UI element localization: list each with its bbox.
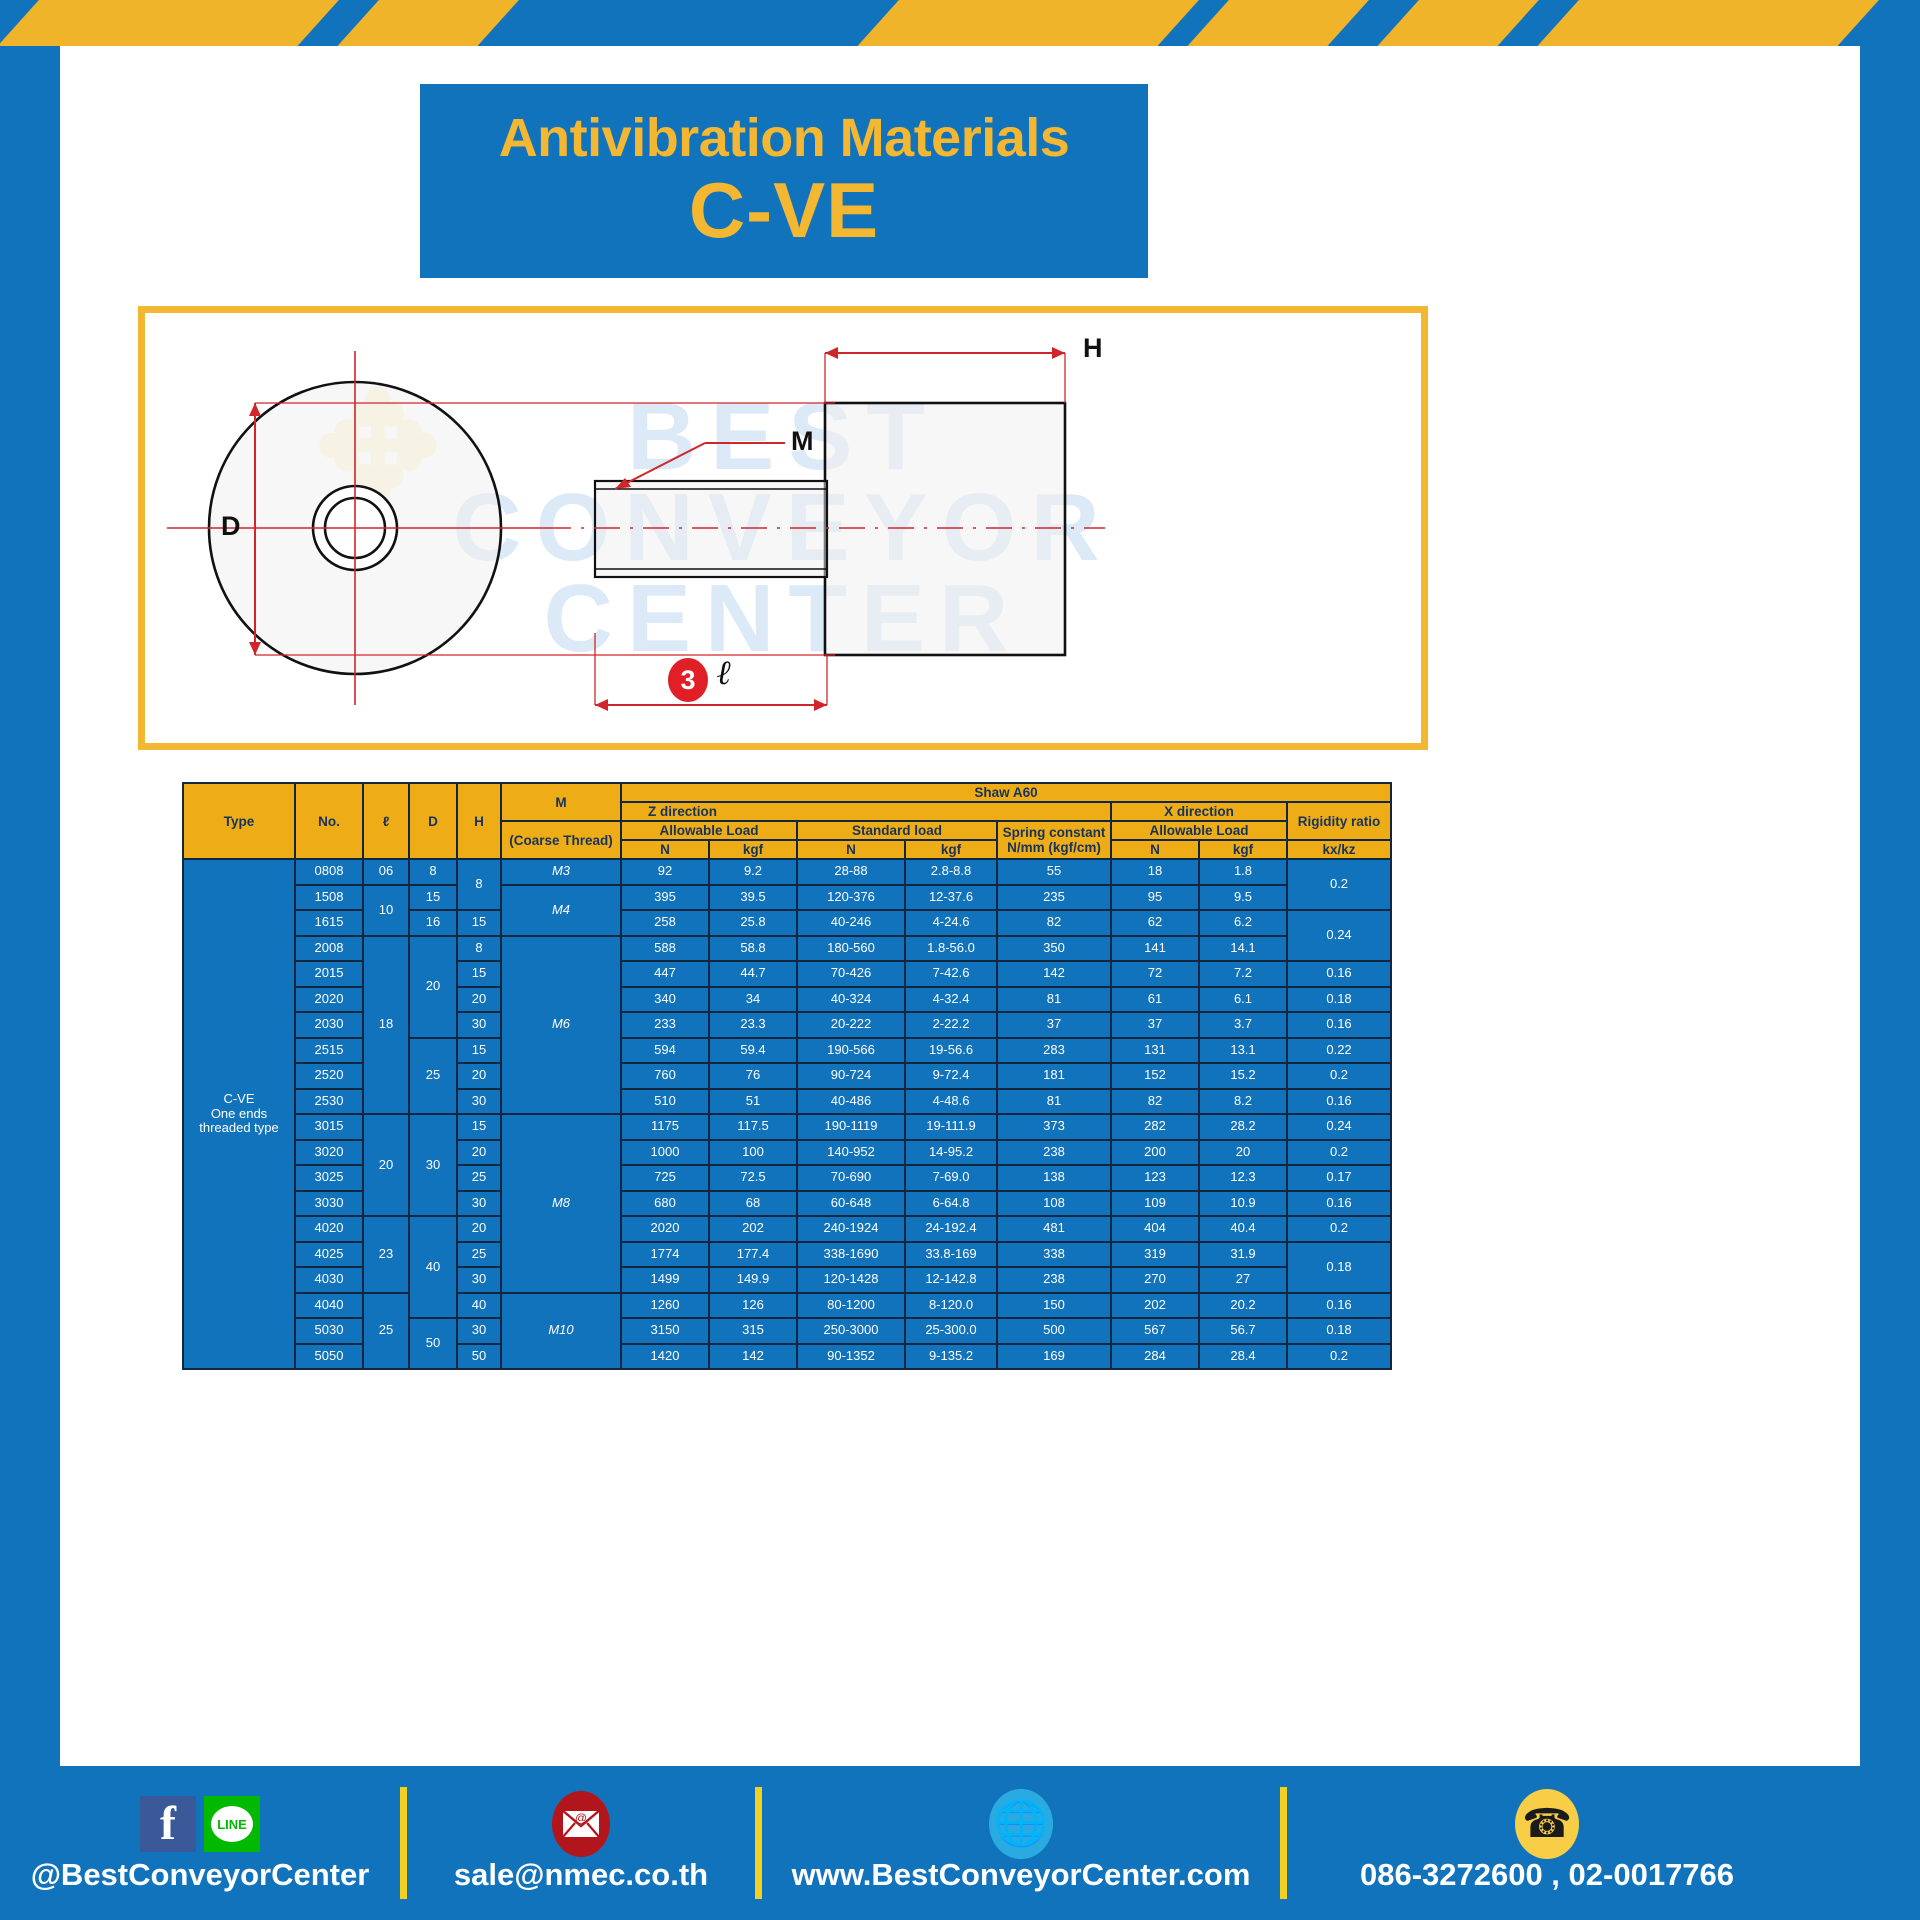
cell-z-allowable-kgf: 315 <box>709 1318 797 1344</box>
col-header-m: M <box>501 783 621 821</box>
dimension-label-l: ℓ <box>717 655 732 693</box>
cell-z-allowable-kgf: 126 <box>709 1293 797 1319</box>
cell-l: 20 <box>363 1114 409 1216</box>
col-header-std-kgf: kgf <box>905 840 997 859</box>
cell-rigidity-ratio: 0.17 <box>1287 1165 1391 1191</box>
cell-z-allowable-kgf: 59.4 <box>709 1038 797 1064</box>
col-header-type: Type <box>183 783 295 859</box>
cell-h: 20 <box>457 1140 501 1166</box>
cell-no: 5030 <box>295 1318 363 1344</box>
col-header-x-direction: X direction <box>1111 802 1287 821</box>
cell-rigidity-ratio: 0.2 <box>1287 1140 1391 1166</box>
cell-x-allowable-n: 95 <box>1111 885 1199 911</box>
cell-h: 20 <box>457 1216 501 1242</box>
cell-x-allowable-kgf: 56.7 <box>1199 1318 1287 1344</box>
cell-standard-load-kgf: 19-111.9 <box>905 1114 997 1140</box>
table-row: C-VEOne endsthreaded type08080688M3929.2… <box>183 859 1391 885</box>
cell-spring-constant: 82 <box>997 910 1111 936</box>
stripe-5 <box>1377 0 1542 46</box>
cell-x-allowable-kgf: 3.7 <box>1199 1012 1287 1038</box>
cell-x-allowable-kgf: 6.1 <box>1199 987 1287 1013</box>
stripe-2 <box>337 0 522 46</box>
cell-standard-load-n: 120-376 <box>797 885 905 911</box>
cell-spring-constant: 181 <box>997 1063 1111 1089</box>
cell-x-allowable-n: 61 <box>1111 987 1199 1013</box>
cell-standard-load-n: 90-724 <box>797 1063 905 1089</box>
cell-no: 2020 <box>295 987 363 1013</box>
cell-no: 2520 <box>295 1063 363 1089</box>
envelope-glyph: @ <box>561 1809 601 1839</box>
table-row: 200818208M658858.8180-5601.8-56.03501411… <box>183 936 1391 962</box>
cell-standard-load-kgf: 4-24.6 <box>905 910 997 936</box>
top-stripe-decoration <box>0 0 1920 46</box>
cell-z-allowable-n: 233 <box>621 1012 709 1038</box>
page-title: Antivibration Materials <box>499 110 1070 167</box>
cell-no: 3030 <box>295 1191 363 1217</box>
line-icon[interactable]: LINE <box>204 1796 260 1852</box>
cell-standard-load-kgf: 33.8-169 <box>905 1242 997 1268</box>
col-header-h: H <box>457 783 501 859</box>
cell-no: 3025 <box>295 1165 363 1191</box>
table-row: 40202340202020202240-192424-192.44814044… <box>183 1216 1391 1242</box>
cell-h: 30 <box>457 1191 501 1217</box>
cell-z-allowable-kgf: 68 <box>709 1191 797 1217</box>
cell-rigidity-ratio: 0.2 <box>1287 1344 1391 1370</box>
technical-drawing-panel: ✥ BEST CONVEYOR CENTER <box>138 306 1428 750</box>
cell-standard-load-n: 80-1200 <box>797 1293 905 1319</box>
stripe-3 <box>857 0 1202 46</box>
cell-z-allowable-n: 1260 <box>621 1293 709 1319</box>
cell-x-allowable-n: 82 <box>1111 1089 1199 1115</box>
dimension-label-d: D <box>221 511 241 542</box>
cell-h: 25 <box>457 1165 501 1191</box>
cell-rigidity-ratio: 0.16 <box>1287 1089 1391 1115</box>
col-header-shaw-a60: Shaw A60 <box>621 783 1391 802</box>
col-header-spring-constant: Spring constant N/mm (kgf/cm) <box>997 821 1111 859</box>
cell-x-allowable-n: 200 <box>1111 1140 1199 1166</box>
cell-z-allowable-n: 1420 <box>621 1344 709 1370</box>
cell-standard-load-n: 240-1924 <box>797 1216 905 1242</box>
cell-h: 30 <box>457 1318 501 1344</box>
col-header-d: D <box>409 783 457 859</box>
cell-standard-load-n: 120-1428 <box>797 1267 905 1293</box>
cell-x-allowable-n: 282 <box>1111 1114 1199 1140</box>
cell-standard-load-kgf: 4-48.6 <box>905 1089 997 1115</box>
cell-rigidity-ratio: 0.22 <box>1287 1038 1391 1064</box>
cell-no: 3015 <box>295 1114 363 1140</box>
footer-divider-1 <box>400 1787 407 1899</box>
cell-spring-constant: 235 <box>997 885 1111 911</box>
cell-rigidity-ratio: 0.16 <box>1287 1191 1391 1217</box>
cell-h: 20 <box>457 987 501 1013</box>
cell-z-allowable-n: 594 <box>621 1038 709 1064</box>
cell-x-allowable-kgf: 28.2 <box>1199 1114 1287 1140</box>
cell-z-allowable-kgf: 202 <box>709 1216 797 1242</box>
cell-x-allowable-kgf: 31.9 <box>1199 1242 1287 1268</box>
cell-no: 1508 <box>295 885 363 911</box>
cell-x-allowable-kgf: 7.2 <box>1199 961 1287 987</box>
cell-h: 30 <box>457 1089 501 1115</box>
cell-z-allowable-n: 447 <box>621 961 709 987</box>
cell-x-allowable-n: 284 <box>1111 1344 1199 1370</box>
cell-z-allowable-n: 1175 <box>621 1114 709 1140</box>
cell-x-allowable-n: 152 <box>1111 1063 1199 1089</box>
cell-h: 15 <box>457 1114 501 1140</box>
cell-rigidity-ratio: 0.18 <box>1287 1318 1391 1344</box>
cell-z-allowable-n: 680 <box>621 1191 709 1217</box>
cell-z-allowable-kgf: 142 <box>709 1344 797 1370</box>
cell-z-allowable-n: 510 <box>621 1089 709 1115</box>
type-label-line-2: One ends <box>186 1107 292 1122</box>
spring-constant-title: Spring constant <box>1000 825 1108 840</box>
stripe-6 <box>1537 0 1882 46</box>
cell-x-allowable-kgf: 6.2 <box>1199 910 1287 936</box>
cell-no: 4040 <box>295 1293 363 1319</box>
phone-number: 086-3272600 , 02-0017766 <box>1360 1857 1734 1893</box>
cell-x-allowable-n: 567 <box>1111 1318 1199 1344</box>
phone-icon[interactable]: ☎ <box>1515 1789 1579 1859</box>
cell-l: 10 <box>363 885 409 936</box>
cell-standard-load-n: 20-222 <box>797 1012 905 1038</box>
website-url: www.BestConveyorCenter.com <box>792 1857 1251 1893</box>
cell-spring-constant: 108 <box>997 1191 1111 1217</box>
cell-z-allowable-kgf: 149.9 <box>709 1267 797 1293</box>
cell-spring-constant: 150 <box>997 1293 1111 1319</box>
cell-standard-load-kgf: 25-300.0 <box>905 1318 997 1344</box>
cell-standard-load-kgf: 24-192.4 <box>905 1216 997 1242</box>
cell-x-allowable-kgf: 27 <box>1199 1267 1287 1293</box>
cell-x-allowable-n: 319 <box>1111 1242 1199 1268</box>
title-block: Antivibration Materials C-VE <box>420 84 1148 278</box>
cell-h: 8 <box>457 859 501 910</box>
cell-h: 8 <box>457 936 501 962</box>
dimension-badge-3: 3 <box>668 658 708 702</box>
footer-website-group[interactable]: 🌐 www.BestConveyorCenter.com <box>762 1793 1280 1893</box>
cell-x-allowable-kgf: 8.2 <box>1199 1089 1287 1115</box>
type-label-line-1: C-VE <box>186 1092 292 1107</box>
cell-spring-constant: 37 <box>997 1012 1111 1038</box>
cell-standard-load-n: 70-426 <box>797 961 905 987</box>
cell-standard-load-kgf: 12-142.8 <box>905 1267 997 1293</box>
cell-rigidity-ratio: 0.16 <box>1287 1293 1391 1319</box>
cell-x-allowable-kgf: 10.9 <box>1199 1191 1287 1217</box>
cell-spring-constant: 238 <box>997 1140 1111 1166</box>
dimension-label-h: H <box>1083 333 1103 364</box>
cell-z-allowable-n: 395 <box>621 885 709 911</box>
cell-z-allowable-n: 3150 <box>621 1318 709 1344</box>
cell-z-allowable-kgf: 23.3 <box>709 1012 797 1038</box>
cell-standard-load-kgf: 19-56.6 <box>905 1038 997 1064</box>
cell-standard-load-kgf: 6-64.8 <box>905 1191 997 1217</box>
cell-z-allowable-kgf: 9.2 <box>709 859 797 885</box>
svg-text:@: @ <box>575 1811 587 1825</box>
cell-standard-load-n: 90-1352 <box>797 1344 905 1370</box>
stripe-1 <box>0 0 343 46</box>
cell-rigidity-ratio: 0.24 <box>1287 1114 1391 1140</box>
cell-x-allowable-kgf: 28.4 <box>1199 1344 1287 1370</box>
product-code-title: C-VE <box>689 170 879 252</box>
col-header-z-kgf: kgf <box>709 840 797 859</box>
footer-divider-3 <box>1280 1787 1287 1899</box>
cell-rigidity-ratio: 0.16 <box>1287 1012 1391 1038</box>
col-header-z-allowable-load: Allowable Load <box>621 821 797 840</box>
cell-z-allowable-kgf: 39.5 <box>709 885 797 911</box>
cell-h: 15 <box>457 961 501 987</box>
globe-icon[interactable]: 🌐 <box>989 1789 1053 1859</box>
cell-d: 50 <box>409 1318 457 1369</box>
cell-x-allowable-n: 62 <box>1111 910 1199 936</box>
cell-spring-constant: 238 <box>997 1267 1111 1293</box>
cell-h: 20 <box>457 1063 501 1089</box>
cell-z-allowable-kgf: 177.4 <box>709 1242 797 1268</box>
cell-rigidity-ratio: 0.2 <box>1287 859 1391 910</box>
cell-z-allowable-n: 258 <box>621 910 709 936</box>
cell-z-allowable-n: 1774 <box>621 1242 709 1268</box>
cell-z-allowable-kgf: 51 <box>709 1089 797 1115</box>
cell-standard-load-kgf: 8-120.0 <box>905 1293 997 1319</box>
cell-d: 15 <box>409 885 457 911</box>
email-address: sale@nmec.co.th <box>454 1857 708 1893</box>
cell-d: 40 <box>409 1216 457 1318</box>
cell-z-allowable-n: 760 <box>621 1063 709 1089</box>
cell-x-allowable-kgf: 20.2 <box>1199 1293 1287 1319</box>
cell-z-allowable-n: 1499 <box>621 1267 709 1293</box>
col-header-coarse-thread: (Coarse Thread) <box>501 821 621 859</box>
cell-rigidity-ratio: 0.2 <box>1287 1216 1391 1242</box>
cell-l: 23 <box>363 1216 409 1293</box>
col-header-l: ℓ <box>363 783 409 859</box>
cell-standard-load-n: 180-560 <box>797 936 905 962</box>
cell-x-allowable-kgf: 9.5 <box>1199 885 1287 911</box>
cell-standard-load-n: 338-1690 <box>797 1242 905 1268</box>
footer-phone-group[interactable]: ☎ 086-3272600 , 02-0017766 <box>1287 1793 1807 1893</box>
email-icon[interactable]: @ <box>552 1791 610 1857</box>
cell-m: M10 <box>501 1293 621 1370</box>
cell-h: 25 <box>457 1242 501 1268</box>
col-header-no: No. <box>295 783 363 859</box>
cell-spring-constant: 142 <box>997 961 1111 987</box>
footer-social-group[interactable]: f LINE @BestConveyorCenter <box>0 1793 400 1893</box>
cell-z-allowable-kgf: 58.8 <box>709 936 797 962</box>
cell-x-allowable-n: 270 <box>1111 1267 1199 1293</box>
cell-spring-constant: 81 <box>997 987 1111 1013</box>
cell-x-allowable-kgf: 12.3 <box>1199 1165 1287 1191</box>
cell-x-allowable-n: 37 <box>1111 1012 1199 1038</box>
cell-standard-load-kgf: 7-42.6 <box>905 961 997 987</box>
cell-z-allowable-n: 340 <box>621 987 709 1013</box>
cell-rigidity-ratio: 0.18 <box>1287 987 1391 1013</box>
col-header-x-n: N <box>1111 840 1199 859</box>
cell-z-allowable-n: 1000 <box>621 1140 709 1166</box>
cell-standard-load-kgf: 14-95.2 <box>905 1140 997 1166</box>
cell-m: M4 <box>501 885 621 936</box>
cell-d: 8 <box>409 859 457 885</box>
cell-d: 16 <box>409 910 457 936</box>
cell-x-allowable-n: 123 <box>1111 1165 1199 1191</box>
cell-l: 06 <box>363 859 409 885</box>
col-header-rigidity-ratio: Rigidity ratio <box>1287 802 1391 840</box>
stripe-4 <box>1187 0 1372 46</box>
cell-no: 0808 <box>295 859 363 885</box>
cell-spring-constant: 350 <box>997 936 1111 962</box>
cell-z-allowable-kgf: 34 <box>709 987 797 1013</box>
line-icon-label: LINE <box>211 1806 253 1842</box>
cell-rigidity-ratio: 0.16 <box>1287 961 1391 987</box>
cell-z-allowable-kgf: 117.5 <box>709 1114 797 1140</box>
cell-standard-load-n: 28-88 <box>797 859 905 885</box>
cell-h: 40 <box>457 1293 501 1319</box>
cell-standard-load-kgf: 7-69.0 <box>905 1165 997 1191</box>
cell-standard-load-kgf: 12-37.6 <box>905 885 997 911</box>
cell-h: 30 <box>457 1267 501 1293</box>
cell-rigidity-ratio: 0.18 <box>1287 1242 1391 1293</box>
cell-no: 2015 <box>295 961 363 987</box>
cell-no: 1615 <box>295 910 363 936</box>
cell-z-allowable-n: 2020 <box>621 1216 709 1242</box>
facebook-icon[interactable]: f <box>140 1796 196 1852</box>
cell-spring-constant: 338 <box>997 1242 1111 1268</box>
cell-m: M3 <box>501 859 621 885</box>
type-label-line-3: threaded type <box>186 1121 292 1136</box>
specification-table-wrapper: Type No. ℓ D H M Shaw A60 Z direction X … <box>182 782 1390 1370</box>
cell-h: 50 <box>457 1344 501 1370</box>
cell-spring-constant: 481 <box>997 1216 1111 1242</box>
cell-z-allowable-n: 92 <box>621 859 709 885</box>
cell-no: 3020 <box>295 1140 363 1166</box>
cell-d: 20 <box>409 936 457 1038</box>
cell-standard-load-n: 140-952 <box>797 1140 905 1166</box>
cell-x-allowable-n: 202 <box>1111 1293 1199 1319</box>
cell-no: 2530 <box>295 1089 363 1115</box>
cell-x-allowable-n: 72 <box>1111 961 1199 987</box>
col-header-kxkz: kx/kz <box>1287 840 1391 859</box>
cell-no: 2515 <box>295 1038 363 1064</box>
col-header-z-direction: Z direction <box>621 802 1111 821</box>
cell-spring-constant: 500 <box>997 1318 1111 1344</box>
cell-standard-load-kgf: 2.8-8.8 <box>905 859 997 885</box>
cell-z-allowable-kgf: 100 <box>709 1140 797 1166</box>
cell-z-allowable-kgf: 72.5 <box>709 1165 797 1191</box>
cell-l: 18 <box>363 936 409 1115</box>
cell-x-allowable-kgf: 20 <box>1199 1140 1287 1166</box>
cell-spring-constant: 373 <box>997 1114 1111 1140</box>
cell-h: 15 <box>457 910 501 936</box>
cell-spring-constant: 138 <box>997 1165 1111 1191</box>
cell-standard-load-n: 40-246 <box>797 910 905 936</box>
cell-z-allowable-n: 725 <box>621 1165 709 1191</box>
col-header-x-allowable-load: Allowable Load <box>1111 821 1287 840</box>
col-header-z-n: N <box>621 840 709 859</box>
cell-standard-load-n: 190-566 <box>797 1038 905 1064</box>
cell-h: 15 <box>457 1038 501 1064</box>
cell-x-allowable-kgf: 1.8 <box>1199 859 1287 885</box>
cell-no: 4020 <box>295 1216 363 1242</box>
col-header-standard-load: Standard load <box>797 821 997 840</box>
cell-standard-load-n: 70-690 <box>797 1165 905 1191</box>
table-row: 40402540M10126012680-12008-120.015020220… <box>183 1293 1391 1319</box>
col-header-x-kgf: kgf <box>1199 840 1287 859</box>
col-header-std-n: N <box>797 840 905 859</box>
cell-x-allowable-n: 131 <box>1111 1038 1199 1064</box>
product-drawing-svg <box>145 313 1421 743</box>
social-handle: @BestConveyorCenter <box>31 1857 370 1893</box>
cell-x-allowable-kgf: 13.1 <box>1199 1038 1287 1064</box>
cell-spring-constant: 169 <box>997 1344 1111 1370</box>
cell-d: 25 <box>409 1038 457 1115</box>
cell-no: 5050 <box>295 1344 363 1370</box>
cell-x-allowable-n: 109 <box>1111 1191 1199 1217</box>
specification-table-body: C-VEOne endsthreaded type08080688M3929.2… <box>183 859 1391 1369</box>
cell-z-allowable-kgf: 25.8 <box>709 910 797 936</box>
cell-m: M6 <box>501 936 621 1115</box>
cell-x-allowable-n: 404 <box>1111 1216 1199 1242</box>
cell-standard-load-kgf: 9-135.2 <box>905 1344 997 1370</box>
footer-divider-2 <box>755 1787 762 1899</box>
cell-spring-constant: 81 <box>997 1089 1111 1115</box>
cell-l: 25 <box>363 1293 409 1370</box>
cell-d: 30 <box>409 1114 457 1216</box>
cell-x-allowable-kgf: 40.4 <box>1199 1216 1287 1242</box>
cell-rigidity-ratio: 0.2 <box>1287 1063 1391 1089</box>
cell-z-allowable-kgf: 76 <box>709 1063 797 1089</box>
specification-table: Type No. ℓ D H M Shaw A60 Z direction X … <box>182 782 1392 1370</box>
table-row: 3015203015M81175117.5190-111919-111.9373… <box>183 1114 1391 1140</box>
cell-m: M8 <box>501 1114 621 1293</box>
cell-z-allowable-n: 588 <box>621 936 709 962</box>
cell-no: 2030 <box>295 1012 363 1038</box>
cell-standard-load-n: 190-1119 <box>797 1114 905 1140</box>
cell-standard-load-n: 250-3000 <box>797 1318 905 1344</box>
cell-standard-load-kgf: 9-72.4 <box>905 1063 997 1089</box>
cell-standard-load-n: 40-324 <box>797 987 905 1013</box>
spring-constant-units: N/mm (kgf/cm) <box>1000 840 1108 855</box>
cell-h: 30 <box>457 1012 501 1038</box>
cell-standard-load-kgf: 4-32.4 <box>905 987 997 1013</box>
cell-x-allowable-kgf: 14.1 <box>1199 936 1287 962</box>
cell-z-allowable-kgf: 44.7 <box>709 961 797 987</box>
cell-standard-load-kgf: 2-22.2 <box>905 1012 997 1038</box>
cell-no: 4025 <box>295 1242 363 1268</box>
cell-standard-load-n: 40-486 <box>797 1089 905 1115</box>
type-cell: C-VEOne endsthreaded type <box>183 859 295 1369</box>
cell-x-allowable-n: 18 <box>1111 859 1199 885</box>
cell-standard-load-kgf: 1.8-56.0 <box>905 936 997 962</box>
cell-rigidity-ratio: 0.24 <box>1287 910 1391 961</box>
cell-x-allowable-n: 141 <box>1111 936 1199 962</box>
footer-email-group[interactable]: @ sale@nmec.co.th <box>407 1793 755 1893</box>
contact-footer: f LINE @BestConveyorCenter @ sale@nmec.c… <box>0 1766 1920 1920</box>
dimension-label-m: M <box>791 426 814 457</box>
table-row: 15081015M439539.5120-37612-37.6235959.5 <box>183 885 1391 911</box>
cell-standard-load-n: 60-648 <box>797 1191 905 1217</box>
cell-x-allowable-kgf: 15.2 <box>1199 1063 1287 1089</box>
cell-spring-constant: 283 <box>997 1038 1111 1064</box>
cell-no: 4030 <box>295 1267 363 1293</box>
cell-no: 2008 <box>295 936 363 962</box>
cell-spring-constant: 55 <box>997 859 1111 885</box>
